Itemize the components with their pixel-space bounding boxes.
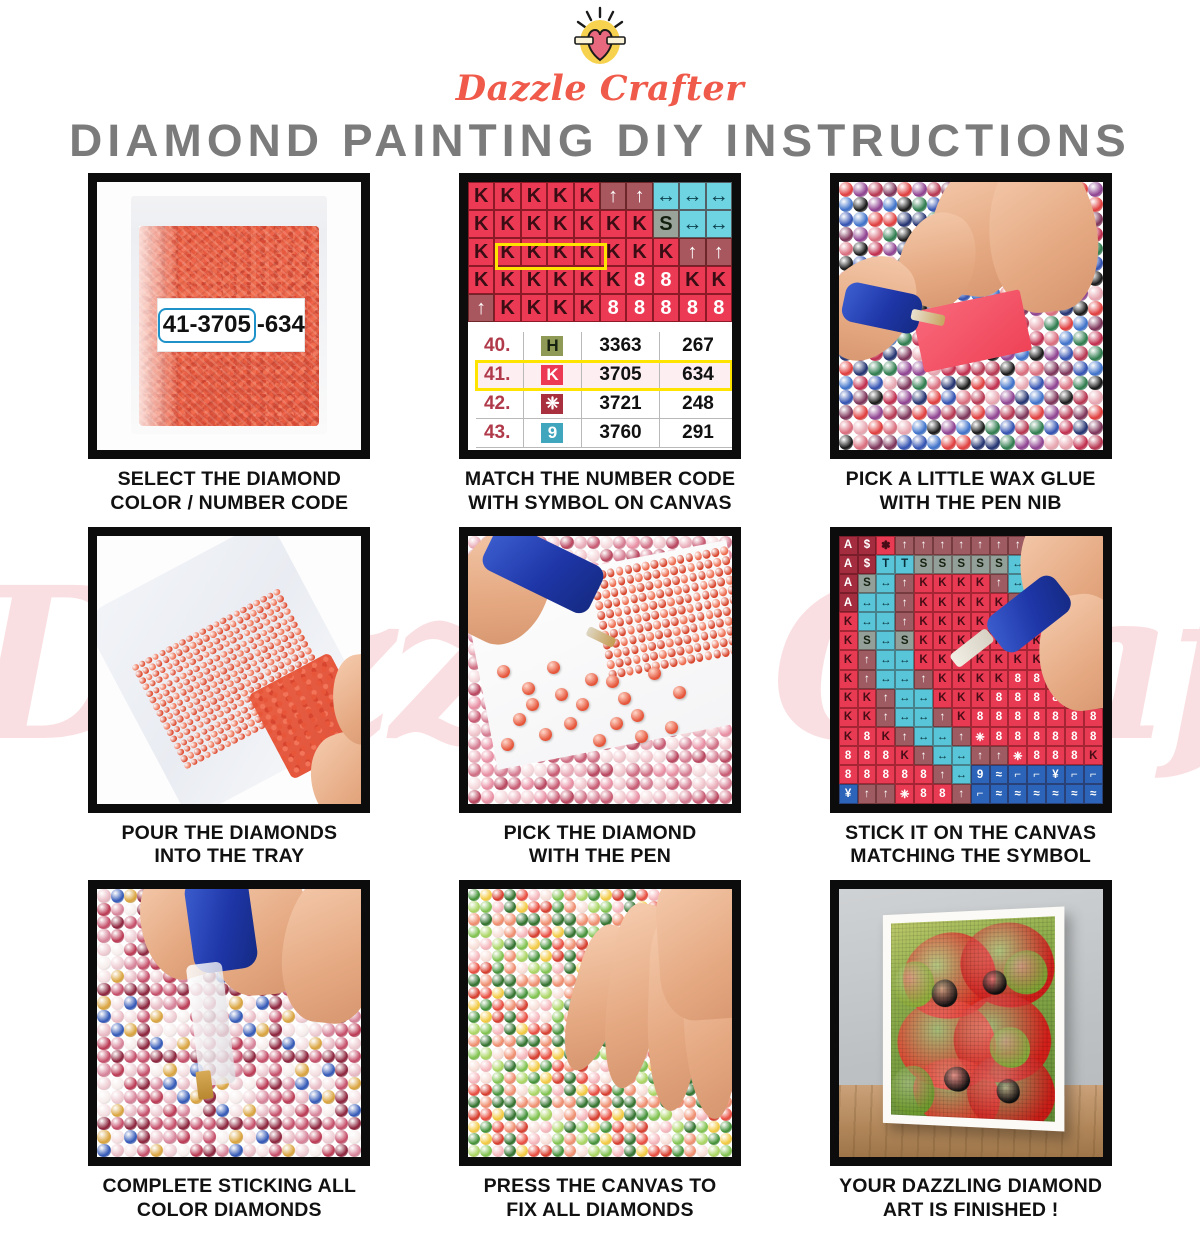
canvas-cell: K	[706, 266, 732, 294]
chart-cell: 8	[895, 765, 914, 784]
chart-cell: ≈	[1027, 784, 1046, 803]
canvas-cell: K	[468, 238, 494, 266]
canvas-cell: K	[574, 182, 600, 210]
chart-cell: K	[952, 689, 971, 708]
canvas-cell: K	[679, 266, 705, 294]
step-complete-sticking: COMPLETE STICKING ALL COLOR DIAMONDS	[58, 880, 401, 1234]
canvas-cell: K	[468, 182, 494, 210]
canvas-cell: K	[521, 182, 547, 210]
caption-line-2: WITH THE PEN	[504, 845, 697, 869]
step-4-photo	[88, 527, 370, 813]
brand-name: Dazzle Crafter	[0, 68, 1200, 109]
instruction-steps-grid: 41-3705-634 SELECT THE DIAMOND COLOR / N…	[0, 167, 1200, 1234]
canvas-cell: K	[494, 294, 520, 322]
chart-cell: S	[933, 555, 952, 574]
chart-cell: ↔	[858, 612, 877, 631]
step-3-photo	[830, 173, 1112, 459]
step-stick-on-canvas: A$✽↑↑↑↑↑↑↑↑↑KKA$TTSSSSS↔↔SKKAS↔↑KKKK↑↔↔K…	[799, 527, 1142, 881]
chart-cell: K	[971, 593, 990, 612]
chart-cell: ↑	[858, 670, 877, 689]
chart-cell: 8	[1027, 746, 1046, 765]
chart-cell: S	[990, 555, 1009, 574]
caption-line-2: MATCHING THE SYMBOL	[845, 845, 1096, 869]
chart-cell: K	[876, 727, 895, 746]
chart-cell: K	[952, 612, 971, 631]
heart-with-pen-sunburst-icon	[563, 6, 637, 74]
chart-cell: A	[839, 536, 858, 555]
caption-line-1: PICK THE DIAMOND	[504, 822, 697, 846]
step-4-caption: POUR THE DIAMONDS INTO THE TRAY	[121, 822, 337, 870]
chart-cell: K	[839, 708, 858, 727]
chart-cell: 8	[1084, 708, 1103, 727]
canvas-cell: K	[574, 294, 600, 322]
chart-cell: K	[990, 650, 1009, 669]
chart-cell: S	[971, 555, 990, 574]
chart-cell: K	[839, 727, 858, 746]
chart-cell: ↔	[876, 670, 895, 689]
legend-index: 42.	[476, 390, 524, 418]
legend-count: 248	[660, 390, 732, 418]
legend-count: 267	[660, 332, 732, 360]
canvas-cell: ↑	[706, 238, 732, 266]
canvas-cell: K	[574, 210, 600, 238]
canvas-cell: K	[468, 266, 494, 294]
chart-cell: ↑	[952, 784, 971, 803]
legend-symbol: K	[524, 361, 582, 389]
chart-cell: ↔	[876, 631, 895, 650]
chart-cell: 8	[1008, 670, 1027, 689]
chart-cell: ↔	[933, 727, 952, 746]
chart-cell: $	[858, 555, 877, 574]
chart-cell: K	[914, 650, 933, 669]
chart-cell: ↑	[895, 593, 914, 612]
canvas-cell: K	[600, 210, 626, 238]
chart-cell: 8	[876, 765, 895, 784]
chart-cell: 8	[858, 746, 877, 765]
step-6-caption: STICK IT ON THE CANVAS MATCHING THE SYMB…	[845, 822, 1096, 870]
chart-cell: ⌐	[1027, 765, 1046, 784]
chart-cell: A	[839, 593, 858, 612]
page-header: Dazzle Crafter DIAMOND PAINTING DIY INST…	[0, 0, 1200, 167]
chart-cell: T	[895, 555, 914, 574]
drill-code-highlight: 41-3705	[158, 308, 256, 343]
canvas-cell: 8	[626, 266, 652, 294]
legend-index: 41.	[476, 361, 524, 389]
chart-cell: ↑	[914, 670, 933, 689]
canvas-cell: K	[547, 210, 573, 238]
canvas-cell: K	[626, 238, 652, 266]
chart-cell: ↑	[952, 727, 971, 746]
chart-cell: K	[933, 670, 952, 689]
drill-code-suffix: -634	[257, 311, 305, 339]
chart-cell: K	[1008, 650, 1027, 669]
canvas-cell: K	[547, 294, 573, 322]
page-title: DIAMOND PAINTING DIY INSTRUCTIONS	[0, 115, 1200, 167]
caption-line-1: SELECT THE DIAMOND	[110, 468, 348, 492]
chart-cell: K	[914, 631, 933, 650]
chart-cell: K	[933, 612, 952, 631]
step-1-photo: 41-3705-634	[88, 173, 370, 459]
canvas-cell: ↑	[600, 182, 626, 210]
step-7-photo	[88, 880, 370, 1166]
chart-cell: K	[971, 689, 990, 708]
color-legend-table: 40.H336326741.K370563442.❈372124843.9376…	[476, 332, 732, 450]
chart-cell: ↑	[876, 689, 895, 708]
chart-cell: K	[858, 689, 877, 708]
canvas-cell: ↔	[706, 182, 732, 210]
caption-line-1: PICK A LITTLE WAX GLUE	[846, 468, 1096, 492]
chart-cell: 8	[1084, 727, 1103, 746]
chart-cell: ↑	[895, 536, 914, 555]
chart-cell: T	[876, 555, 895, 574]
canvas-cell: ↔	[706, 210, 732, 238]
chart-cell: ↑	[914, 746, 933, 765]
caption-line-1: STICK IT ON THE CANVAS	[845, 822, 1096, 846]
chart-cell: 8	[933, 784, 952, 803]
framed-artwork	[883, 907, 1065, 1132]
step-9-caption: YOUR DAZZLING DIAMOND ART IS FINISHED !	[839, 1175, 1102, 1223]
chart-cell: ↔	[914, 708, 933, 727]
chart-cell: K	[858, 708, 877, 727]
chart-cell: K	[933, 689, 952, 708]
drill-bag-label: 41-3705-634	[157, 298, 305, 352]
canvas-cell: K	[574, 266, 600, 294]
chart-cell: K	[971, 670, 990, 689]
chart-cell: ❈	[1008, 746, 1027, 765]
chart-cell: K	[933, 593, 952, 612]
legend-index: 40.	[476, 332, 524, 360]
step-5-caption: PICK THE DIAMOND WITH THE PEN	[504, 822, 697, 870]
chart-cell: ↑	[971, 746, 990, 765]
chart-cell: K	[914, 593, 933, 612]
chart-cell: A	[839, 555, 858, 574]
chart-cell: K	[952, 574, 971, 593]
chart-cell: S	[914, 555, 933, 574]
chart-cell: K	[839, 631, 858, 650]
chart-cell: ↑	[858, 650, 877, 669]
canvas-cell: K	[468, 210, 494, 238]
canvas-cell: K	[547, 266, 573, 294]
canvas-cell: 8	[626, 294, 652, 322]
chart-cell: S	[858, 631, 877, 650]
chart-cell: 8	[876, 746, 895, 765]
chart-cell: ↑	[990, 536, 1009, 555]
legend-dmc-code: 3705	[582, 361, 660, 389]
chart-cell: 8	[1008, 708, 1027, 727]
canvas-cell: 8	[653, 294, 679, 322]
step-match-number-code: KKKKK↑↑↔↔↔KKKKKKKS↔↔KKKKKKKK↑↑KKKKKK88KK…	[429, 173, 772, 527]
chart-cell: K	[952, 708, 971, 727]
canvas-cell: ↑	[626, 182, 652, 210]
chart-cell: 9	[971, 765, 990, 784]
canvas-cell: K	[494, 182, 520, 210]
caption-line-2: WITH SYMBOL ON CANVAS	[465, 492, 735, 516]
chart-cell: K	[914, 612, 933, 631]
legend-count: 291	[660, 419, 732, 447]
chart-cell: ↔	[876, 612, 895, 631]
step-1-caption: SELECT THE DIAMOND COLOR / NUMBER CODE	[110, 468, 348, 516]
chart-cell: ≈	[1065, 784, 1084, 803]
step-pick-diamond-pen: PICK THE DIAMOND WITH THE PEN	[429, 527, 772, 881]
chart-cell: 8	[1027, 708, 1046, 727]
canvas-cell: 8	[600, 294, 626, 322]
chart-cell: ↔	[895, 708, 914, 727]
caption-line-1: COMPLETE STICKING ALL	[102, 1175, 356, 1199]
chart-cell: K	[914, 574, 933, 593]
legend-dmc-code: 3721	[582, 390, 660, 418]
caption-line-1: YOUR DAZZLING DIAMOND	[839, 1175, 1102, 1199]
chart-cell: ¥	[839, 784, 858, 803]
chart-cell: 8	[1027, 727, 1046, 746]
step-7-caption: COMPLETE STICKING ALL COLOR DIAMONDS	[102, 1175, 356, 1223]
chart-cell: ↑	[990, 574, 1009, 593]
chart-cell: ❈	[971, 727, 990, 746]
chart-cell: K	[933, 650, 952, 669]
canvas-cell: K	[521, 266, 547, 294]
chart-cell: K	[933, 631, 952, 650]
chart-cell: ↑	[858, 784, 877, 803]
chart-cell: ↔	[952, 765, 971, 784]
chart-cell: ≈	[1084, 784, 1103, 803]
legend-symbol: 9	[524, 419, 582, 447]
caption-line-2: COLOR / NUMBER CODE	[110, 492, 348, 516]
chart-cell: 8	[1008, 727, 1027, 746]
chart-cell: ↑	[876, 784, 895, 803]
chart-cell: ↑	[933, 765, 952, 784]
chart-cell: 8	[971, 708, 990, 727]
canvas-cell: K	[494, 210, 520, 238]
legend-symbol: ❈	[524, 390, 582, 418]
chart-cell: 8	[858, 727, 877, 746]
chart-cell: ¥	[1046, 765, 1065, 784]
chart-cell: ↔	[876, 574, 895, 593]
chart-cell: ↔	[895, 670, 914, 689]
chart-cell: ≈	[1046, 784, 1065, 803]
chart-cell: ↔	[914, 689, 933, 708]
caption-line-2: INTO THE TRAY	[121, 845, 337, 869]
caption-line-1: POUR THE DIAMONDS	[121, 822, 337, 846]
canvas-cell: K	[626, 210, 652, 238]
chart-cell: K	[933, 574, 952, 593]
chart-cell: ↔	[952, 746, 971, 765]
chart-cell: ≈	[1008, 784, 1027, 803]
chart-cell: 8	[990, 708, 1009, 727]
canvas-highlight-box	[495, 243, 607, 270]
canvas-cell: ↑	[679, 238, 705, 266]
chart-cell: A	[839, 574, 858, 593]
chart-cell: 8	[1065, 727, 1084, 746]
step-5-photo	[459, 527, 741, 813]
chart-cell: $	[858, 536, 877, 555]
chart-cell: ⌐	[1008, 765, 1027, 784]
legend-row: 41.K3705634	[476, 361, 732, 390]
canvas-cell: 8	[653, 266, 679, 294]
chart-cell: ✽	[876, 536, 895, 555]
chart-cell: K	[952, 593, 971, 612]
chart-cell: 8	[1046, 746, 1065, 765]
chart-cell: ❈	[895, 784, 914, 803]
chart-cell: ≈	[990, 784, 1009, 803]
chart-cell: K	[839, 689, 858, 708]
chart-cell: ↔	[914, 727, 933, 746]
legend-count: 634	[660, 361, 732, 389]
step-finished-art: YOUR DAZZLING DIAMOND ART IS FINISHED !	[799, 880, 1142, 1234]
chart-cell: ↔	[876, 650, 895, 669]
chart-cell: K	[1084, 746, 1103, 765]
step-6-photo: A$✽↑↑↑↑↑↑↑↑↑KKA$TTSSSSS↔↔SKKAS↔↑KKKK↑↔↔K…	[830, 527, 1112, 813]
chart-cell: ↑	[876, 708, 895, 727]
chart-cell: K	[839, 612, 858, 631]
chart-cell: K	[839, 650, 858, 669]
chart-cell: ↑	[990, 746, 1009, 765]
step-3-caption: PICK A LITTLE WAX GLUE WITH THE PEN NIB	[846, 468, 1096, 516]
caption-line-1: MATCH THE NUMBER CODE	[465, 468, 735, 492]
canvas-cell: K	[653, 238, 679, 266]
chart-cell: ↑	[914, 536, 933, 555]
legend-dmc-code: 3760	[582, 419, 660, 447]
canvas-cell: K	[521, 210, 547, 238]
canvas-cell: 8	[679, 294, 705, 322]
chart-cell: 8	[914, 784, 933, 803]
chart-cell: ↑	[895, 727, 914, 746]
caption-line-2: FIX ALL DIAMONDS	[484, 1199, 717, 1223]
chart-cell: ↔	[858, 593, 877, 612]
canvas-cell: ↔	[653, 182, 679, 210]
chart-cell: 8	[1065, 746, 1084, 765]
chart-cell: K	[952, 670, 971, 689]
chart-cell: ↑	[933, 708, 952, 727]
chart-cell: K	[990, 670, 1009, 689]
chart-cell: ↔	[876, 593, 895, 612]
chart-cell: 8	[858, 765, 877, 784]
chart-cell: K	[895, 746, 914, 765]
chart-cell: ⌐	[971, 784, 990, 803]
legend-dmc-code: 3363	[582, 332, 660, 360]
step-pick-wax-glue: PICK A LITTLE WAX GLUE WITH THE PEN NIB	[799, 173, 1142, 527]
chart-cell: ↔	[933, 746, 952, 765]
legend-row: 42.❈3721248	[476, 390, 732, 419]
chart-cell: 8	[914, 765, 933, 784]
chart-cell: S	[858, 574, 877, 593]
canvas-cell: K	[494, 266, 520, 294]
step-2-photo: KKKKK↑↑↔↔↔KKKKKKKS↔↔KKKKKKKK↑↑KKKKKK88KK…	[459, 173, 741, 459]
canvas-cell: K	[600, 266, 626, 294]
canvas-cell: K	[547, 182, 573, 210]
chart-cell: ↑	[933, 536, 952, 555]
chart-cell: ≈	[990, 765, 1009, 784]
legend-symbol: H	[524, 332, 582, 360]
legend-index: 43.	[476, 419, 524, 447]
step-8-photo	[459, 880, 741, 1166]
canvas-cell: K	[521, 294, 547, 322]
step-press-canvas: PRESS THE CANVAS TO FIX ALL DIAMONDS	[429, 880, 772, 1234]
legend-row: 43.93760291	[476, 419, 732, 448]
chart-cell: 8	[990, 727, 1009, 746]
step-pour-diamonds-tray: POUR THE DIAMONDS INTO THE TRAY	[58, 527, 401, 881]
chart-cell: ⌐	[1065, 765, 1084, 784]
chart-cell: 8	[1008, 689, 1027, 708]
chart-cell: ↔	[895, 650, 914, 669]
canvas-cell: S	[653, 210, 679, 238]
caption-line-2: COLOR DIAMONDS	[102, 1199, 356, 1223]
chart-cell: 8	[839, 765, 858, 784]
chart-cell: K	[839, 670, 858, 689]
caption-line-1: PRESS THE CANVAS TO	[484, 1175, 717, 1199]
canvas-cell: 8	[706, 294, 732, 322]
chart-cell: K	[971, 574, 990, 593]
chart-cell: 8	[990, 689, 1009, 708]
chart-cell: 8	[839, 746, 858, 765]
chart-cell: S	[895, 631, 914, 650]
caption-line-2: WITH THE PEN NIB	[846, 492, 1096, 516]
legend-row: 40.H3363267	[476, 332, 732, 361]
chart-cell: S	[952, 555, 971, 574]
chart-cell: ↑	[952, 536, 971, 555]
canvas-cell: ↔	[679, 210, 705, 238]
chart-cell: ↑	[971, 536, 990, 555]
chart-cell: ⌐	[1084, 765, 1103, 784]
chart-cell: 8	[1027, 689, 1046, 708]
step-select-color-code: 41-3705-634 SELECT THE DIAMOND COLOR / N…	[58, 173, 401, 527]
chart-cell: ↔	[895, 689, 914, 708]
chart-cell: ↑	[895, 612, 914, 631]
chart-cell: ↑	[895, 574, 914, 593]
canvas-cell: ↑	[468, 294, 494, 322]
step-2-caption: MATCH THE NUMBER CODE WITH SYMBOL ON CAN…	[465, 468, 735, 516]
chart-cell: 8	[1046, 708, 1065, 727]
chart-cell: 8	[1046, 727, 1065, 746]
step-8-caption: PRESS THE CANVAS TO FIX ALL DIAMONDS	[484, 1175, 717, 1223]
step-9-photo	[830, 880, 1112, 1166]
canvas-cell: ↔	[679, 182, 705, 210]
caption-line-2: ART IS FINISHED !	[839, 1199, 1102, 1223]
